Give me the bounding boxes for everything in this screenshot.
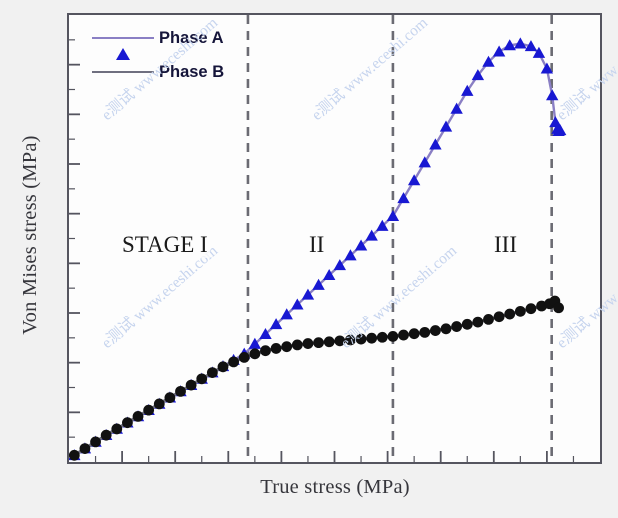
data-marker <box>526 303 537 314</box>
data-marker <box>313 337 324 348</box>
data-marker <box>175 386 186 397</box>
data-marker <box>419 327 430 338</box>
legend-label-phase-a: Phase A <box>159 29 224 48</box>
data-marker <box>377 332 388 343</box>
data-marker <box>398 330 409 341</box>
data-marker <box>69 450 80 461</box>
data-marker <box>228 356 239 367</box>
legend-label-phase-b: Phase B <box>159 63 224 82</box>
legend-item-phase-b[interactable]: Phase B <box>92 55 262 89</box>
stage-label-2: II <box>307 232 326 258</box>
data-marker <box>196 373 207 384</box>
data-marker <box>186 380 197 391</box>
data-marker <box>430 325 441 336</box>
triangle-marker-icon <box>116 31 130 49</box>
data-marker <box>207 367 218 378</box>
x-axis-label: True stress (MPa) <box>67 476 603 499</box>
data-marker <box>451 321 462 332</box>
data-marker <box>281 341 292 352</box>
data-marker <box>546 89 558 100</box>
data-marker <box>133 411 144 422</box>
data-marker <box>324 336 335 347</box>
data-marker <box>80 443 91 454</box>
data-marker <box>218 361 229 372</box>
data-marker <box>408 174 420 185</box>
data-marker <box>239 352 250 363</box>
data-marker <box>388 331 399 342</box>
data-marker <box>334 335 345 346</box>
stage-label-3: III <box>492 232 519 258</box>
legend-item-phase-a[interactable]: Phase A <box>92 21 262 55</box>
data-marker <box>450 103 462 114</box>
stage-label-1: STAGE I <box>120 232 210 258</box>
data-marker <box>483 314 494 325</box>
data-marker <box>271 343 282 354</box>
data-marker <box>366 333 377 344</box>
data-marker <box>504 309 515 320</box>
data-marker <box>515 306 526 317</box>
data-marker <box>462 319 473 330</box>
series-markers-phase-b <box>69 296 564 461</box>
data-marker <box>292 339 303 350</box>
data-marker <box>303 338 314 349</box>
data-marker <box>143 405 154 416</box>
data-marker <box>90 436 101 447</box>
data-marker <box>111 424 122 435</box>
data-marker <box>429 138 441 149</box>
data-marker <box>409 328 420 339</box>
data-marker <box>397 192 409 203</box>
data-marker <box>260 345 271 356</box>
data-marker <box>514 37 526 48</box>
data-marker <box>553 302 564 313</box>
data-marker <box>164 392 175 403</box>
data-marker <box>419 156 431 167</box>
series-line-phase-b <box>74 301 558 455</box>
legend: Phase A Phase B <box>92 21 262 89</box>
data-marker <box>101 430 112 441</box>
data-marker <box>494 311 505 322</box>
data-marker <box>387 210 399 221</box>
legend-swatch-phase-a <box>92 31 154 45</box>
data-marker <box>345 335 356 346</box>
data-marker <box>472 317 483 328</box>
data-marker <box>441 323 452 334</box>
data-marker <box>249 348 260 359</box>
data-marker <box>122 417 133 428</box>
data-marker <box>493 45 505 56</box>
data-marker <box>440 121 452 132</box>
data-marker <box>356 334 367 345</box>
data-marker <box>154 398 165 409</box>
legend-swatch-phase-b <box>92 65 154 79</box>
figure-canvas: Von Mises stress (MPa) True stress (MPa)… <box>0 0 618 518</box>
y-axis-label: Von Mises stress (MPa) <box>10 5 50 465</box>
